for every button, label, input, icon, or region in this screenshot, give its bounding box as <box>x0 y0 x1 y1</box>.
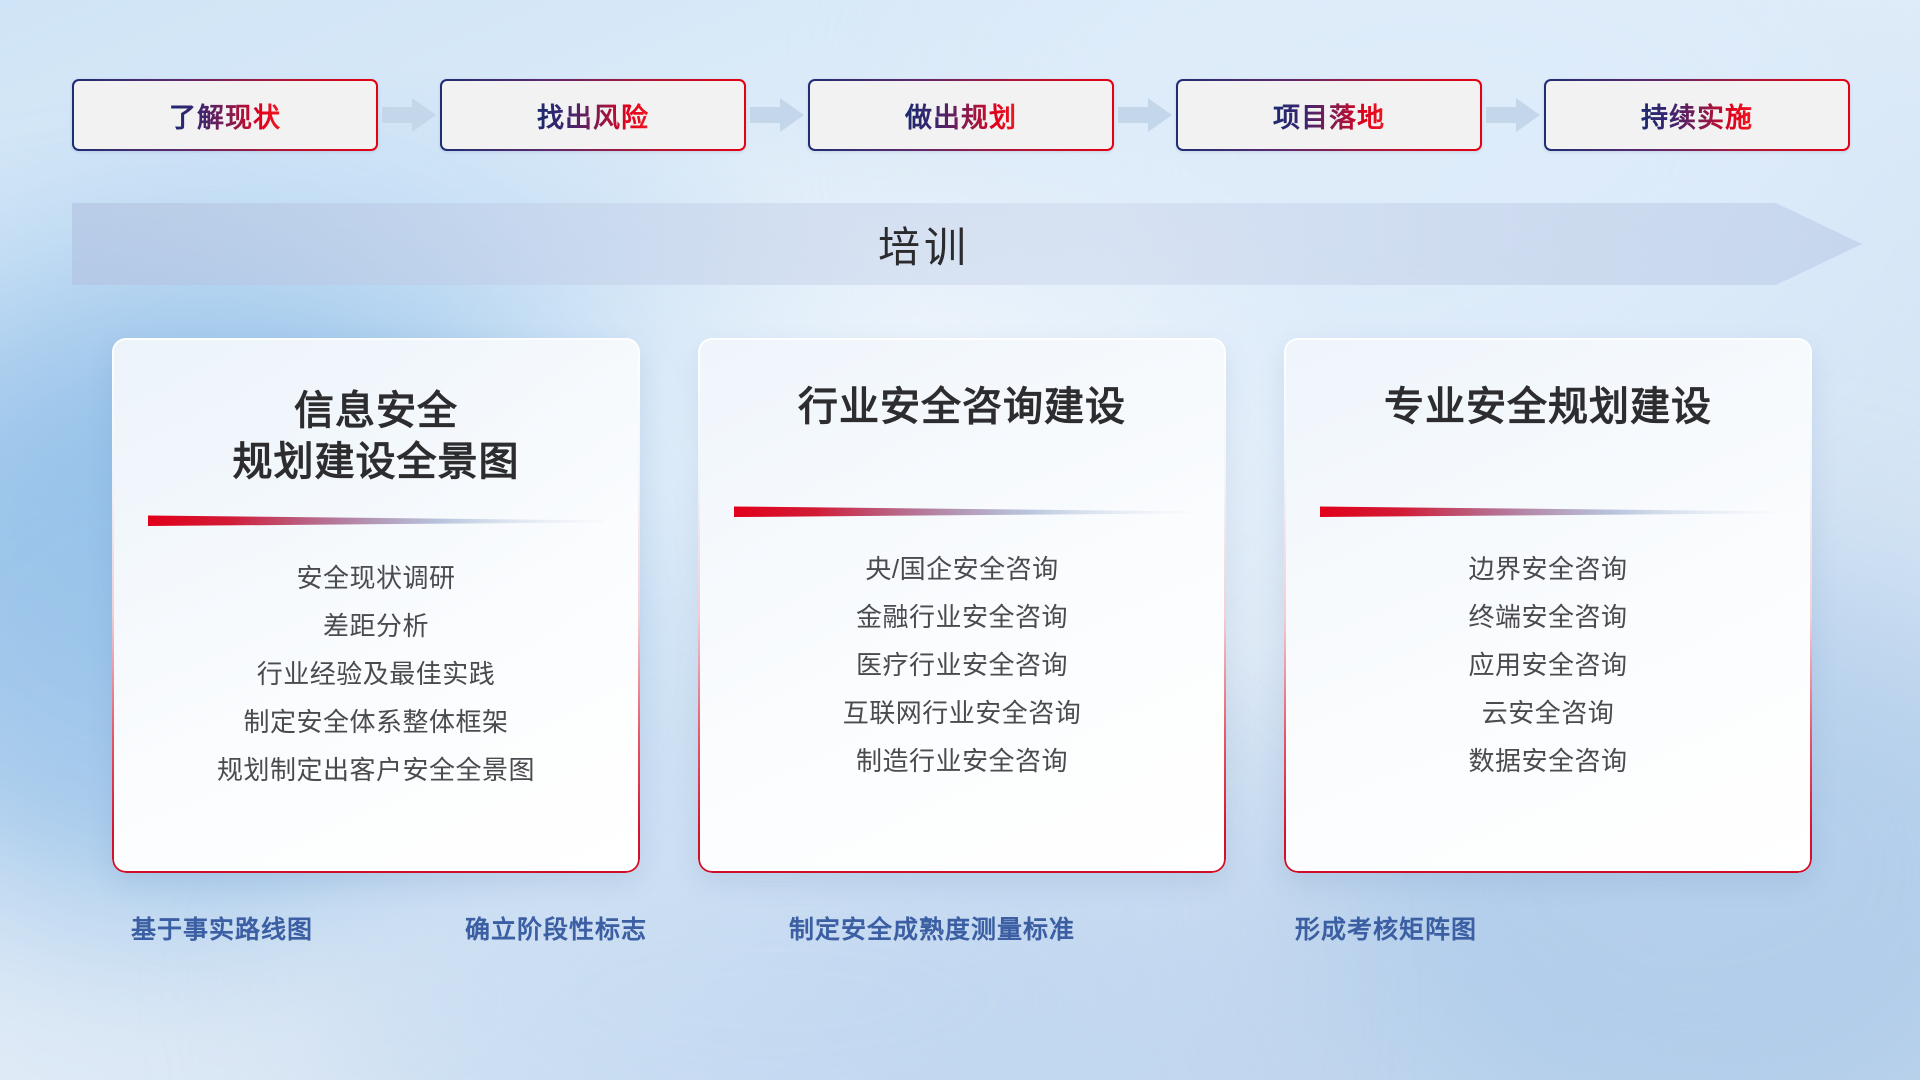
step-box-1[interactable]: 了解现状 <box>72 79 378 151</box>
step-box-4[interactable]: 项目落地 <box>1176 79 1482 151</box>
list-item: 制定安全体系整体框架 <box>138 698 614 746</box>
card-item-list: 安全现状调研 差距分析 行业经验及最佳实践 制定安全体系整体框架 规划制定出客户… <box>138 554 614 794</box>
arrow-right-icon <box>1482 95 1544 135</box>
list-item: 医疗行业安全咨询 <box>724 641 1200 689</box>
banner-label: 培训 <box>72 203 1776 285</box>
step-label: 找出风险 <box>537 96 649 135</box>
outcome-label: 确立阶段性标志 <box>465 910 647 946</box>
list-item: 行业经验及最佳实践 <box>138 650 614 698</box>
outcome-label-row: 基于事实路线图 确立阶段性标志 制定安全成熟度测量标准 形成考核矩阵图 <box>0 910 1920 956</box>
service-card-row: 信息安全 规划建设全景图 <box>112 338 1812 873</box>
outcome-label: 基于事实路线图 <box>131 910 313 946</box>
step-label: 项目落地 <box>1273 96 1385 135</box>
card-item-list: 边界安全咨询 终端安全咨询 应用安全咨询 云安全咨询 数据安全咨询 <box>1310 545 1786 785</box>
list-item: 云安全咨询 <box>1310 689 1786 737</box>
outcome-label: 制定安全成熟度测量标准 <box>789 910 1075 946</box>
process-step-row: 了解现状 找出风险 做出规划 项目落地 <box>72 79 1852 151</box>
arrow-right-icon <box>746 95 808 135</box>
step-label: 持续实施 <box>1641 96 1753 135</box>
step-label: 了解现状 <box>169 96 281 135</box>
step-box-5[interactable]: 持续实施 <box>1544 79 1850 151</box>
card-item-list: 央/国企安全咨询 金融行业安全咨询 医疗行业安全咨询 互联网行业安全咨询 制造行… <box>724 545 1200 785</box>
list-item: 边界安全咨询 <box>1310 545 1786 593</box>
list-item: 差距分析 <box>138 602 614 650</box>
step-label: 做出规划 <box>905 96 1017 135</box>
training-banner: 培训 <box>72 203 1862 285</box>
card-title: 信息安全 规划建设全景图 <box>138 386 614 488</box>
list-item: 制造行业安全咨询 <box>724 737 1200 785</box>
step-box-3[interactable]: 做出规划 <box>808 79 1114 151</box>
step-box-2[interactable]: 找出风险 <box>440 79 746 151</box>
list-item: 安全现状调研 <box>138 554 614 602</box>
card-divider <box>734 501 1190 523</box>
service-card-2[interactable]: 行业安全咨询建设 <box>698 338 1226 873</box>
list-item: 央/国企安全咨询 <box>724 545 1200 593</box>
card-divider <box>1320 501 1776 523</box>
list-item: 数据安全咨询 <box>1310 737 1786 785</box>
arrow-right-icon <box>1114 95 1176 135</box>
list-item: 规划制定出客户安全全景图 <box>138 746 614 794</box>
list-item: 终端安全咨询 <box>1310 593 1786 641</box>
slide-canvas: 了解现状 找出风险 做出规划 项目落地 <box>0 0 1920 1080</box>
card-title: 专业安全规划建设 <box>1310 382 1786 433</box>
outcome-label: 形成考核矩阵图 <box>1295 910 1477 946</box>
list-item: 互联网行业安全咨询 <box>724 689 1200 737</box>
list-item: 应用安全咨询 <box>1310 641 1786 689</box>
card-divider <box>148 510 604 532</box>
service-card-1[interactable]: 信息安全 规划建设全景图 <box>112 338 640 873</box>
arrow-right-icon <box>378 95 440 135</box>
service-card-3[interactable]: 专业安全规划建设 <box>1284 338 1812 873</box>
list-item: 金融行业安全咨询 <box>724 593 1200 641</box>
card-title: 行业安全咨询建设 <box>724 382 1200 433</box>
